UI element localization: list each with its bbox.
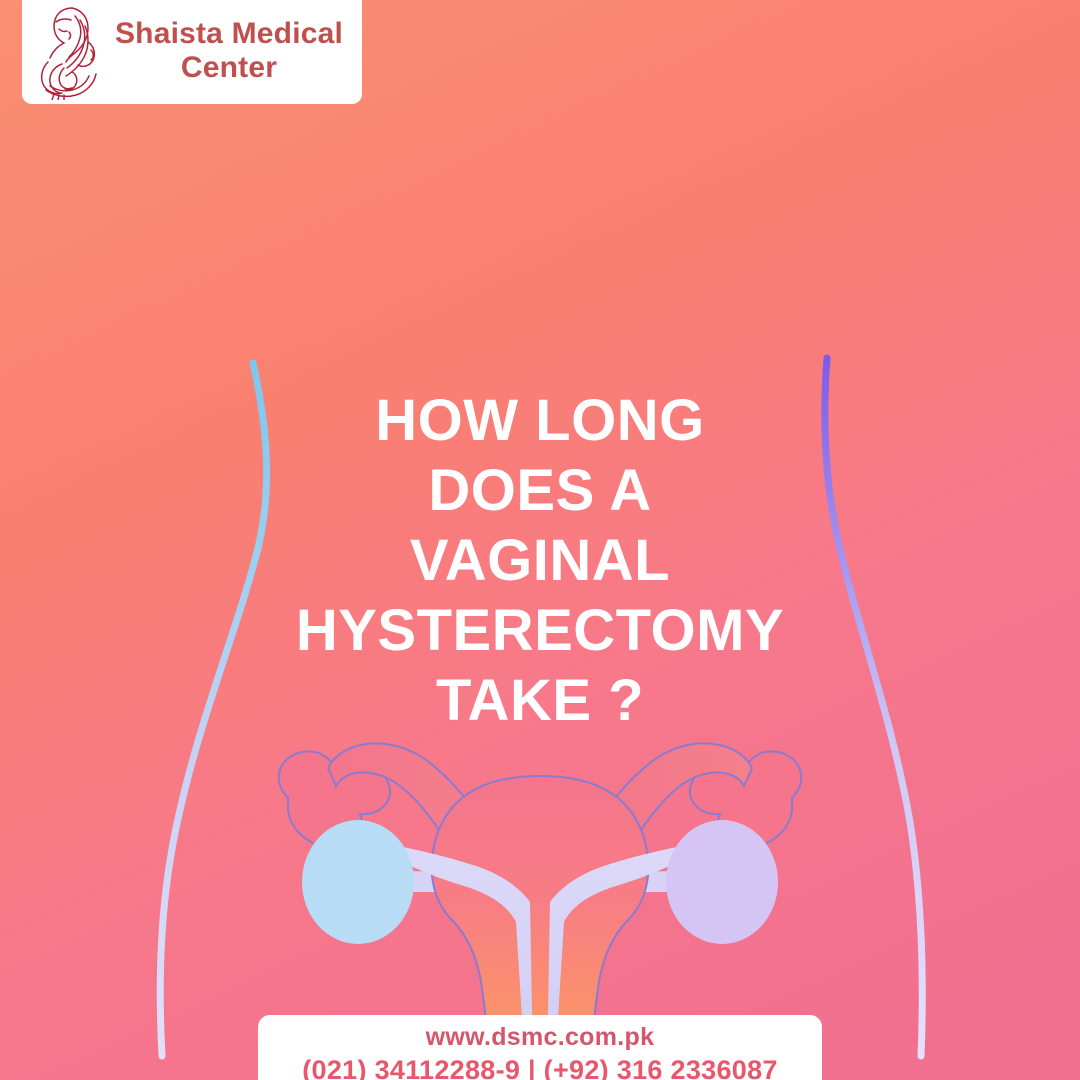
contact-footer-panel: www.dsmc.com.pk (021) 34112288-9 | (+92)… (258, 1015, 822, 1080)
headline-line-5: TAKE ? (0, 666, 1080, 736)
right-ovary (666, 820, 778, 944)
website-link[interactable]: www.dsmc.com.pk (258, 1021, 822, 1053)
headline-line-3: VAGINAL (0, 526, 1080, 596)
headline-line-1: HOW LONG (0, 386, 1080, 456)
left-ovary (302, 820, 414, 944)
brand-name-line1: Shaista Medical (115, 17, 343, 50)
brand-name: Shaista Medical Center (106, 17, 356, 84)
headline-line-4: HYSTERECTOMY (0, 596, 1080, 666)
phone-numbers[interactable]: (021) 34112288-9 | (+92) 316 2336087 (258, 1053, 822, 1080)
mother-and-baby-icon (28, 2, 106, 100)
poster-canvas: Shaista Medical Center HOW LONG DOES A V… (0, 0, 1080, 1080)
headline-line-2: DOES A (0, 456, 1080, 526)
page-title: HOW LONG DOES A VAGINAL HYSTERECTOMY TAK… (0, 386, 1080, 736)
uterus-anatomy-illustration (250, 720, 830, 1050)
brand-logo-panel[interactable]: Shaista Medical Center (22, 0, 362, 104)
brand-name-line2: Center (106, 51, 352, 85)
uterus-body (432, 776, 649, 1050)
